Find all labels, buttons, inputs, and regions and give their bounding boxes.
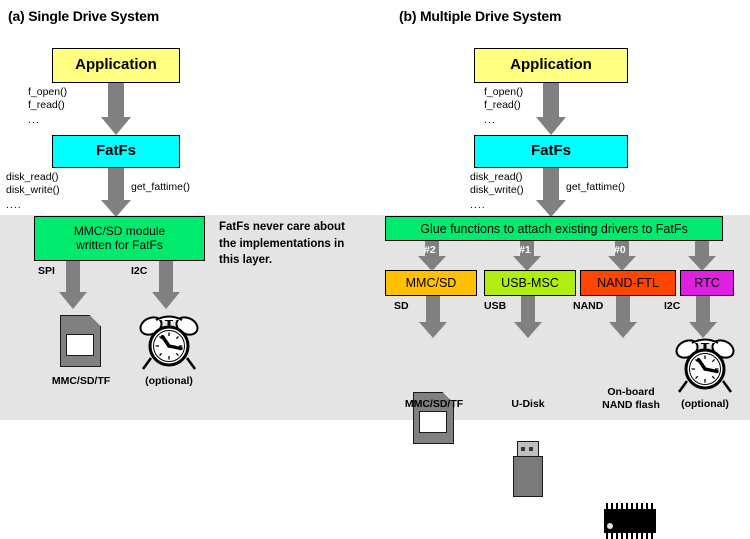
interface-label-nand: NAND bbox=[573, 300, 603, 312]
drive-number-2: #2 bbox=[424, 244, 436, 256]
single-get-fattime-label: get_fattime() bbox=[131, 181, 190, 194]
single-module-line-2: written for FatFs bbox=[76, 239, 163, 252]
nand-chip-icon bbox=[604, 503, 656, 539]
multi-api-call-labels: f_open() f_read() ... bbox=[484, 86, 523, 126]
arrow-i2c-single bbox=[152, 261, 180, 311]
interface-label-usb: USB bbox=[484, 300, 506, 312]
single-module-line-1: MMC/SD module bbox=[74, 225, 165, 238]
single-api-call-2: f_read() bbox=[28, 99, 67, 112]
alarm-clock-icon bbox=[674, 336, 736, 399]
multi-device-label-nand: On-board NAND flash bbox=[588, 386, 674, 411]
drive-number-0: #0 bbox=[614, 244, 626, 256]
layer-note-line-2: the implementations in bbox=[219, 236, 345, 253]
driver-box-usbmsc: USB-MSC bbox=[484, 270, 576, 296]
section-title-multiple-drive: (b) Multiple Drive System bbox=[399, 8, 561, 24]
multi-api-call-2: f_read() bbox=[484, 99, 523, 112]
layer-note: FatFs never care about the implementatio… bbox=[219, 219, 345, 269]
arrow-i2c-interface bbox=[689, 296, 717, 340]
multi-disk-call-1: disk_read() bbox=[470, 171, 524, 184]
single-api-call-1: f_open() bbox=[28, 86, 67, 99]
driver-box-nandftl: NAND-FTL bbox=[580, 270, 676, 296]
arrow-app-to-fatfs-single bbox=[101, 83, 131, 135]
interface-label-sd: SD bbox=[394, 300, 409, 312]
single-disk-call-2: disk_write() bbox=[6, 184, 60, 197]
driver-box-rtc: RTC bbox=[680, 270, 734, 296]
glue-functions-box: Glue functions to attach existing driver… bbox=[385, 216, 723, 241]
multi-device-label-udisk: U-Disk bbox=[488, 398, 568, 411]
layer-note-line-3: this layer. bbox=[219, 252, 345, 269]
arrow-fatfs-to-glue bbox=[536, 168, 566, 218]
single-mmcsd-module-box: MMC/SD module written for FatFs bbox=[34, 216, 205, 261]
single-disk-call-1: disk_read() bbox=[6, 171, 60, 184]
diagram-canvas: (a) Single Drive System Application f_op… bbox=[0, 0, 750, 420]
single-interface-spi-label: SPI bbox=[38, 265, 55, 277]
multi-device-label-rtc: (optional) bbox=[665, 398, 745, 411]
single-device-label-rtc: (optional) bbox=[129, 375, 209, 388]
multi-application-box: Application bbox=[474, 48, 628, 83]
single-disk-call-3: .... bbox=[6, 199, 60, 212]
single-api-call-3: ... bbox=[28, 114, 67, 127]
multi-device-label-nand-l2: NAND flash bbox=[588, 399, 674, 412]
single-interface-i2c-label: I2C bbox=[131, 265, 147, 277]
multi-get-fattime-label: get_fattime() bbox=[566, 181, 625, 194]
multi-fatfs-box: FatFs bbox=[474, 135, 628, 168]
multi-api-call-1: f_open() bbox=[484, 86, 523, 99]
multi-device-label-nand-l1: On-board bbox=[588, 386, 674, 399]
multi-disk-call-labels: disk_read() disk_write() .... bbox=[470, 171, 524, 211]
single-application-box: Application bbox=[52, 48, 180, 83]
arrow-nand-interface bbox=[609, 296, 637, 340]
arrow-usb-interface bbox=[514, 296, 542, 340]
alarm-clock-icon bbox=[138, 313, 200, 376]
arrow-sd-interface bbox=[419, 296, 447, 340]
section-title-single-drive: (a) Single Drive System bbox=[8, 8, 159, 24]
single-device-label-mmcsdtf: MMC/SD/TF bbox=[41, 375, 121, 388]
multi-disk-call-3: .... bbox=[470, 199, 524, 212]
single-disk-call-labels: disk_read() disk_write() .... bbox=[6, 171, 60, 211]
drive-number-1: #1 bbox=[519, 244, 531, 256]
arrow-fatfs-to-module-single bbox=[101, 168, 131, 218]
interface-label-i2c: I2C bbox=[664, 300, 680, 312]
multi-disk-call-2: disk_write() bbox=[470, 184, 524, 197]
single-fatfs-box: FatFs bbox=[52, 135, 180, 168]
multi-device-label-mmcsdtf: MMC/SD/TF bbox=[394, 398, 474, 411]
arrow-app-to-fatfs-multi bbox=[536, 83, 566, 135]
arrow-glue-to-rtc bbox=[688, 241, 716, 271]
multi-api-call-3: ... bbox=[484, 114, 523, 127]
arrow-spi-single bbox=[59, 261, 87, 311]
sd-card-icon bbox=[60, 315, 101, 367]
single-api-call-labels: f_open() f_read() ... bbox=[28, 86, 67, 126]
driver-box-mmcsd: MMC/SD bbox=[385, 270, 477, 296]
usb-drive-icon bbox=[513, 441, 543, 497]
layer-note-line-1: FatFs never care about bbox=[219, 219, 345, 236]
